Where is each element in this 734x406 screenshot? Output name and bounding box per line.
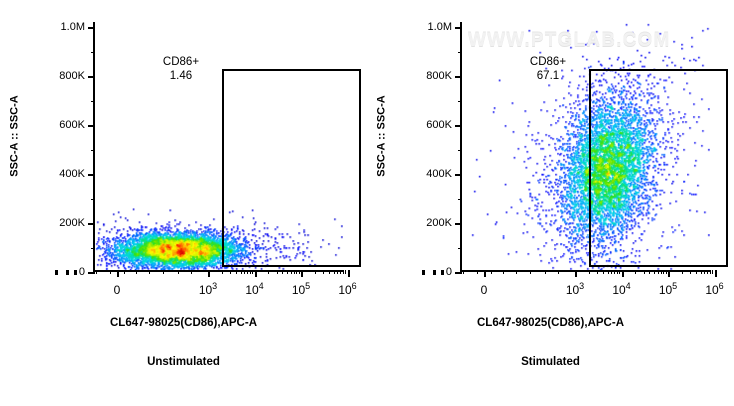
x-tick-label: 0: [114, 283, 121, 297]
x-minor-tick: [617, 270, 618, 274]
y-tick: [88, 174, 95, 176]
x-minor-tick: [649, 270, 650, 274]
x-tick: [348, 270, 350, 277]
x-minor-tick: [701, 270, 702, 274]
gate-name-left: CD86+: [146, 55, 216, 69]
gate-name-right: CD86+: [513, 55, 583, 69]
x-minor-tick: [282, 270, 283, 274]
x-minor-tick: [658, 270, 659, 274]
y-minor-tick: [458, 52, 462, 53]
x-minor-tick: [296, 270, 297, 274]
x-tick: [117, 270, 119, 277]
y-tick-label: 200K: [59, 217, 85, 229]
x-minor-tick: [250, 270, 251, 274]
x-minor-tick: [96, 270, 97, 274]
x-axis-title-right: CL647-98025(CD86),APC-A: [367, 317, 734, 329]
x-minor-tick: [323, 270, 324, 274]
x-minor-tick: [704, 270, 705, 274]
x-minor-tick: [654, 270, 655, 274]
gate-percent-left: 1.46: [146, 69, 216, 83]
x-minor-tick: [663, 270, 664, 274]
x-minor-tick: [441, 270, 444, 275]
x-minor-tick: [291, 270, 292, 274]
x-minor-tick: [343, 270, 344, 274]
x-minor-tick: [608, 270, 609, 274]
x-minor-tick: [136, 270, 137, 274]
y-tick: [88, 27, 95, 29]
y-tick-label: 400K: [59, 168, 85, 180]
x-minor-tick: [690, 270, 691, 274]
x-minor-tick: [55, 270, 58, 275]
x-minor-tick: [710, 270, 711, 274]
plot-canvas-right: WWW.PTGLAB.COM: [462, 22, 710, 270]
x-minor-tick: [503, 270, 504, 274]
y-axis-title-left: SSC-A :: SSC-A: [6, 0, 24, 272]
panel-caption-stimulated: Stimulated: [367, 356, 734, 368]
x-tick-label: 106: [338, 283, 356, 297]
y-tick: [88, 76, 95, 78]
y-minor-tick: [91, 101, 95, 102]
gate-percent-right: 67.1: [513, 69, 583, 83]
x-minor-tick: [247, 270, 248, 274]
y-tick-label: 800K: [426, 70, 452, 82]
x-minor-tick: [287, 270, 288, 274]
panel-unstimulated: SSC-A :: SSC-A 0200K400K600K800K1.0M 010…: [0, 0, 367, 406]
x-minor-tick: [530, 270, 531, 274]
x-minor-tick: [661, 270, 662, 274]
x-minor-tick: [149, 270, 150, 274]
y-tick: [455, 272, 462, 274]
x-minor-tick: [74, 270, 77, 275]
x-tick-label: 103: [199, 283, 217, 297]
x-minor-tick: [230, 270, 231, 274]
x-minor-tick: [603, 270, 604, 274]
y-tick: [455, 76, 462, 78]
x-minor-tick: [712, 270, 713, 274]
x-tick-label: 105: [292, 283, 310, 297]
x-minor-tick: [329, 270, 330, 274]
x-minor-tick: [236, 270, 237, 274]
y-minor-tick: [91, 248, 95, 249]
y-tick: [455, 174, 462, 176]
x-minor-tick: [644, 270, 645, 274]
x-minor-tick: [315, 270, 316, 274]
x-minor-tick: [611, 270, 612, 274]
x-minor-tick: [66, 270, 69, 275]
x-minor-tick: [619, 270, 620, 274]
y-tick: [455, 27, 462, 29]
x-minor-tick: [241, 270, 242, 274]
x-tick: [484, 270, 486, 277]
x-tick-label: 104: [612, 283, 630, 297]
y-minor-tick: [91, 199, 95, 200]
x-tick: [668, 270, 670, 277]
x-minor-tick: [597, 270, 598, 274]
x-tick: [575, 270, 577, 277]
x-minor-tick: [277, 270, 278, 274]
x-minor-tick: [163, 270, 164, 274]
x-minor-tick: [252, 270, 253, 274]
x-tick-label: 103: [566, 283, 584, 297]
panel-stimulated: SSC-A :: SSC-A WWW.PTGLAB.COM 0200K400K6…: [367, 0, 734, 406]
y-minor-tick: [458, 248, 462, 249]
x-minor-tick: [433, 270, 436, 275]
x-minor-tick: [422, 270, 425, 275]
x-tick: [622, 270, 624, 277]
x-minor-tick: [682, 270, 683, 274]
x-minor-tick: [477, 270, 478, 274]
x-minor-tick: [334, 270, 335, 274]
y-tick-label: 1.0M: [428, 21, 452, 33]
x-minor-tick: [635, 270, 636, 274]
x-minor-tick: [191, 270, 192, 274]
x-axis-title-left: CL647-98025(CD86),APC-A: [0, 317, 367, 329]
gate-label-right: CD86+ 67.1: [513, 55, 583, 84]
y-tick-label: 0: [446, 266, 452, 278]
panel-caption-unstimulated: Unstimulated: [0, 356, 367, 368]
x-tick: [255, 270, 257, 277]
x-tick: [715, 270, 717, 277]
x-minor-tick: [345, 270, 346, 274]
x-tick: [208, 270, 210, 277]
x-minor-tick: [299, 270, 300, 274]
y-tick-label: 0: [79, 266, 85, 278]
y-tick: [88, 272, 95, 274]
scatter-dots-left: [95, 22, 343, 270]
y-minor-tick: [458, 101, 462, 102]
x-tick-label: 106: [705, 283, 723, 297]
x-minor-tick: [244, 270, 245, 274]
x-minor-tick: [124, 270, 125, 274]
x-minor-tick: [696, 270, 697, 274]
x-minor-tick: [558, 270, 559, 274]
y-minor-tick: [458, 199, 462, 200]
x-tick: [301, 270, 303, 277]
x-minor-tick: [516, 270, 517, 274]
x-minor-tick: [545, 270, 546, 274]
x-minor-tick: [614, 270, 615, 274]
y-minor-tick: [91, 52, 95, 53]
x-minor-tick: [666, 270, 667, 274]
x-minor-tick: [110, 270, 111, 274]
x-tick-label: 105: [659, 283, 677, 297]
y-tick-label: 800K: [59, 70, 85, 82]
y-minor-tick: [458, 150, 462, 151]
y-tick: [455, 125, 462, 127]
y-tick: [455, 223, 462, 225]
x-tick-label: 0: [481, 283, 488, 297]
x-minor-tick: [268, 270, 269, 274]
y-tick-label: 1.0M: [61, 21, 85, 33]
x-minor-tick: [222, 270, 223, 274]
plot-frame-left: 0200K400K600K800K1.0M 0103104105106 CD86…: [93, 22, 343, 272]
x-tick-label: 104: [245, 283, 263, 297]
y-tick-label: 400K: [426, 168, 452, 180]
x-minor-tick: [491, 270, 492, 274]
x-minor-tick: [340, 270, 341, 274]
y-tick: [88, 125, 95, 127]
y-minor-tick: [91, 150, 95, 151]
y-tick-label: 600K: [59, 119, 85, 131]
x-minor-tick: [178, 270, 179, 274]
plot-canvas-left: [95, 22, 343, 270]
x-minor-tick: [294, 270, 295, 274]
plot-frame-right: WWW.PTGLAB.COM 0200K400K600K800K1.0M 010…: [460, 22, 710, 272]
x-minor-tick: [463, 270, 464, 274]
x-minor-tick: [589, 270, 590, 274]
scatter-dots-right: [462, 22, 710, 270]
x-minor-tick: [707, 270, 708, 274]
y-tick-label: 600K: [426, 119, 452, 131]
flow-cytometry-figure: SSC-A :: SSC-A 0200K400K600K800K1.0M 010…: [0, 0, 734, 406]
y-axis-title-right: SSC-A :: SSC-A: [373, 0, 391, 272]
y-tick: [88, 223, 95, 225]
x-minor-tick: [337, 270, 338, 274]
y-tick-label: 200K: [426, 217, 452, 229]
gate-label-left: CD86+ 1.46: [146, 55, 216, 84]
